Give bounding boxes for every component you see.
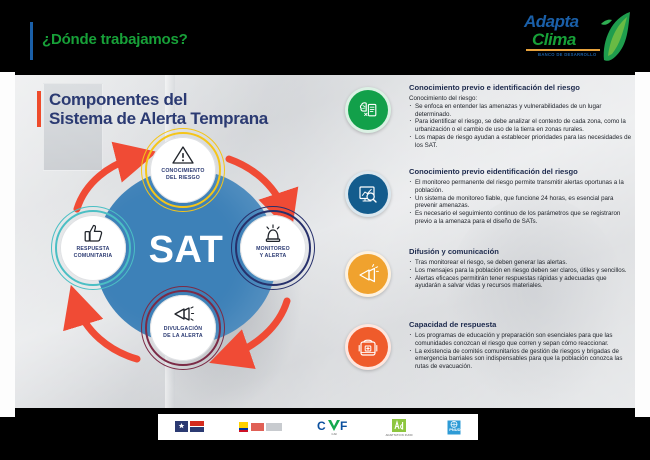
footer-logo-gobierno-chile [175,420,205,434]
chart-magnifier-icon [356,182,380,206]
section-badge [345,87,391,133]
pnud-logo: PNUD [447,420,461,435]
adapta-clima-logo: Adapta Clima BANCO DE DESARROLLO [518,8,636,66]
section-badge [345,324,391,370]
footer-logo-ministerio-ambiente-ecuador [239,420,283,435]
sat-node-divulgacion-de-la-alerta[interactable]: DIVULGACIÓN DE LA ALERTA [150,295,216,361]
footer-logo-adaptation-fund: ADAPTATION FUND [386,418,413,437]
node-label: DIVULGACIÓN DE LA ALERTA [152,326,214,339]
section-body: Conocimiento previo eidentificación del … [409,167,633,226]
header-title: ¿Dónde trabajamos? [42,31,188,48]
left-white-margin [0,72,15,417]
footer-logo-caf: C F CAF [317,419,351,436]
list-item: Los mensajes para la población en riesgo… [409,267,633,275]
list-item: Tras monitorear el riesgo, se deben gene… [409,259,633,267]
node-label-line1: DIVULGACIÓN [152,326,214,333]
node-label-line2: DEL RIESGO [152,175,214,182]
brain-book-icon [356,98,380,122]
node-label-line1: RESPUESTA [62,246,124,253]
svg-text:PNUD: PNUD [449,427,460,432]
node-label: CONOCIMIENTO DEL RIESGO [152,168,214,181]
ministerio-ambiente-ecuador-logo [239,420,283,435]
list-item: Se enfoca en entender las amenazas y vul… [409,103,633,119]
footer-logo-adaptation-fund-caption: ADAPTATION FUND [386,434,413,437]
section-title: Conocimiento previo e identificación del… [409,83,633,93]
node-content: CONOCIMIENTO DEL RIESGO [150,137,216,203]
adaptation-fund-logo [391,418,407,433]
slide-root: ¿Dónde trabajamos? Adapta Clima BANCO DE… [0,0,650,460]
page-title-line1: Componentes del [49,90,329,109]
section-bullet-list: Se enfoca en entender las amenazas y vul… [409,103,633,150]
right-white-margin [635,72,650,417]
sat-node-respuesta-comunitaria[interactable]: RESPUESTA COMUNITARIA [60,215,126,281]
section-title: Capacidad de respuesta [409,320,633,330]
section-badge [345,251,391,297]
right-panel: Conocimiento previo e identificación del… [337,75,635,408]
list-item: Alertas eficaces permitirán tener respue… [409,275,633,291]
node-content: MONITOREO Y ALERTA [240,215,306,281]
panel-accent-bar [37,91,41,127]
section-bullet-list: Tras monitorear el riesgo, se deben gene… [409,259,633,290]
logo-word-adapta: Adapta [524,12,579,32]
section-intro: Conocimiento del riesgo: [409,95,633,103]
siren-icon [261,222,285,244]
node-label-line1: MONITOREO [242,246,304,253]
section-body: Conocimiento previo e identificación del… [409,83,633,150]
warning-triangle-icon [171,144,195,166]
left-panel: Componentes del Sistema de Alerta Tempra… [15,75,345,408]
footer-logo-pnud: PNUD [447,420,461,435]
caf-logo: C F [317,419,351,432]
node-label: RESPUESTA COMUNITARIA [62,246,124,259]
section-body: Difusión y comunicación Tras monitorear … [409,247,633,290]
section-title: Conocimiento previo eidentificación del … [409,167,633,177]
node-label-line2: Y ALERTA [242,253,304,260]
gobierno-chile-logo [175,420,205,434]
first-aid-backpack-icon [356,335,380,359]
sat-node-monitoreo-y-alerta[interactable]: MONITOREO Y ALERTA [240,215,306,281]
section-bullet-list: El monitoreo permanente del riesgo permi… [409,179,633,226]
megaphone-icon [171,302,195,324]
list-item: Los mapas de riesgo ayudan a establecer … [409,134,633,150]
list-item: Es necesario el seguimiento continuo de … [409,210,633,226]
content-card: Componentes del Sistema de Alerta Tempra… [15,75,635,408]
sat-cycle-diagram: SAT [33,137,333,392]
footer-logo-caf-caption: CAF [332,433,338,436]
node-content: DIVULGACIÓN DE LA ALERTA [150,295,216,361]
page-title: Componentes del Sistema de Alerta Tempra… [49,90,329,128]
section-bullet-list: Los programas de educación y preparación… [409,332,633,371]
page-title-line2: Sistema de Alerta Temprana [49,109,329,128]
list-item: Un sistema de monitoreo fiable, que func… [409,195,633,211]
header-accent-bar [30,22,33,60]
list-item: Los programas de educación y preparación… [409,332,633,348]
node-label-line2: COMUNITARIA [62,253,124,260]
node-content: RESPUESTA COMUNITARIA [60,215,126,281]
section-body: Capacidad de respuesta Los programas de … [409,320,633,371]
list-item: La existencia de comités comunitarios de… [409,348,633,371]
logo-word-clima: Clima [532,30,576,50]
leaf-icon [598,10,634,64]
list-item: El monitoreo permanente del riesgo permi… [409,179,633,195]
megaphone-icon [356,262,380,286]
list-item: Para identificar el riesgo, se debe anal… [409,118,633,134]
slide-header: ¿Dónde trabajamos? Adapta Clima BANCO DE… [0,0,650,72]
section-title: Difusión y comunicación [409,247,633,257]
svg-text:C: C [317,419,326,432]
node-label-line2: DE LA ALERTA [152,333,214,340]
logo-underline [526,49,600,51]
sat-node-conocimiento-del-riesgo[interactable]: CONOCIMIENTO DEL RIESGO [150,137,216,203]
node-label: MONITOREO Y ALERTA [242,246,304,259]
svg-text:F: F [340,419,347,432]
footer-logo-strip: C F CAF ADAPTATION FUND PNUD [158,414,478,440]
logo-tagline: BANCO DE DESARROLLO [538,52,597,57]
node-label-line1: CONOCIMIENTO [152,168,214,175]
thumbs-up-icon [81,222,105,244]
section-badge [345,171,391,217]
